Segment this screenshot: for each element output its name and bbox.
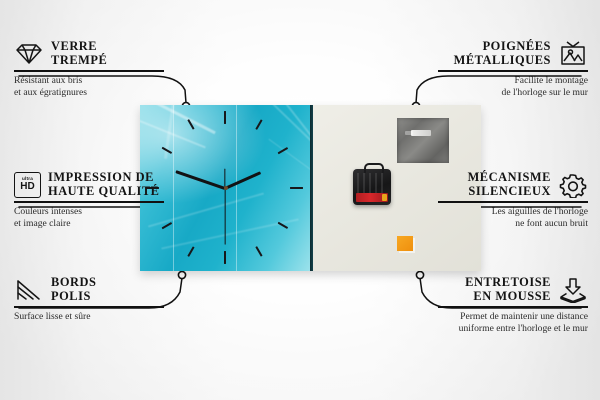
feature-desc-line2: uniforme entre l'horloge et le mur xyxy=(373,323,588,334)
picture-frame-hanger-icon xyxy=(558,41,588,67)
divider xyxy=(14,70,164,72)
feature-desc-line1: Résistant aux bris xyxy=(14,75,229,86)
feature-title-line2: HAUTE QUALITÉ xyxy=(48,185,159,199)
feature-desc-line1: Facilite le montage xyxy=(373,75,588,86)
feature-entretoise-en-mousse: ENTRETOISE EN MOUSSE Permet de maintenir… xyxy=(373,276,588,334)
feature-desc-line2: de l'horloge sur le mur xyxy=(373,87,588,98)
feature-verre-trempe: VERRE TREMPÉ Résistant aux bris et aux é… xyxy=(14,40,229,98)
clock-tick xyxy=(255,246,262,256)
feature-title-line2: TREMPÉ xyxy=(51,54,107,68)
clock-tick xyxy=(224,111,226,124)
divider xyxy=(438,70,588,72)
divider xyxy=(14,306,164,308)
infographic-canvas: VERRE TREMPÉ Résistant aux bris et aux é… xyxy=(0,0,600,400)
feature-title-line2: POLIS xyxy=(51,290,96,304)
ultra-hd-icon: ultra HD xyxy=(14,172,41,198)
divider xyxy=(438,201,588,203)
feature-title-line1: POIGNÉES xyxy=(454,40,551,54)
feature-title-line2: MÉTALLIQUES xyxy=(454,54,551,68)
ultra-hd-icon-bottom: HD xyxy=(20,182,34,192)
divider xyxy=(438,306,588,308)
clock-tick xyxy=(290,187,303,189)
feature-desc-line2: et image claire xyxy=(14,218,229,229)
feature-desc-line1: Couleurs intenses xyxy=(14,206,229,217)
feature-desc-line1: Surface lisse et sûre xyxy=(14,311,229,322)
feature-desc-line2: ne font aucun bruit xyxy=(373,218,588,229)
feature-bords-polis: BORDS POLIS Surface lisse et sûre xyxy=(14,276,229,323)
feature-title-line2: EN MOUSSE xyxy=(465,290,551,304)
feature-mecanisme-silencieux: MÉCANISME SILENCIEUX Les aiguilles de l'… xyxy=(373,171,588,229)
feature-desc-line1: Permet de maintenir une distance xyxy=(373,311,588,322)
metal-hanging-plate xyxy=(397,118,449,163)
feature-impression-haute-qualite: ultra HD IMPRESSION DE HAUTE QUALITÉ Cou… xyxy=(14,171,229,229)
clock-hour-hand xyxy=(224,171,261,190)
diamond-icon xyxy=(14,42,44,66)
foam-spacer-arrow-icon xyxy=(558,277,588,303)
clock-tick xyxy=(224,251,226,264)
polished-edge-icon xyxy=(14,278,44,302)
feature-title-line1: IMPRESSION DE xyxy=(48,171,159,185)
clock-tick xyxy=(255,119,262,129)
clock-tick xyxy=(187,246,194,256)
feature-desc-line1: Les aiguilles de l'horloge xyxy=(373,206,588,217)
feature-title-line1: BORDS xyxy=(51,276,96,290)
divider xyxy=(14,201,164,203)
feature-title-line2: SILENCIEUX xyxy=(468,185,551,199)
feature-title-line1: ENTRETOISE xyxy=(465,276,551,290)
feature-poignees-metalliques: POIGNÉES MÉTALLIQUES Facilite le montage… xyxy=(373,40,588,98)
feature-title-line1: VERRE xyxy=(51,40,107,54)
foam-spacer xyxy=(397,236,413,251)
feature-title-line1: MÉCANISME xyxy=(468,171,551,185)
gear-icon xyxy=(558,172,588,198)
feature-desc-line2: et aux égratignures xyxy=(14,87,229,98)
